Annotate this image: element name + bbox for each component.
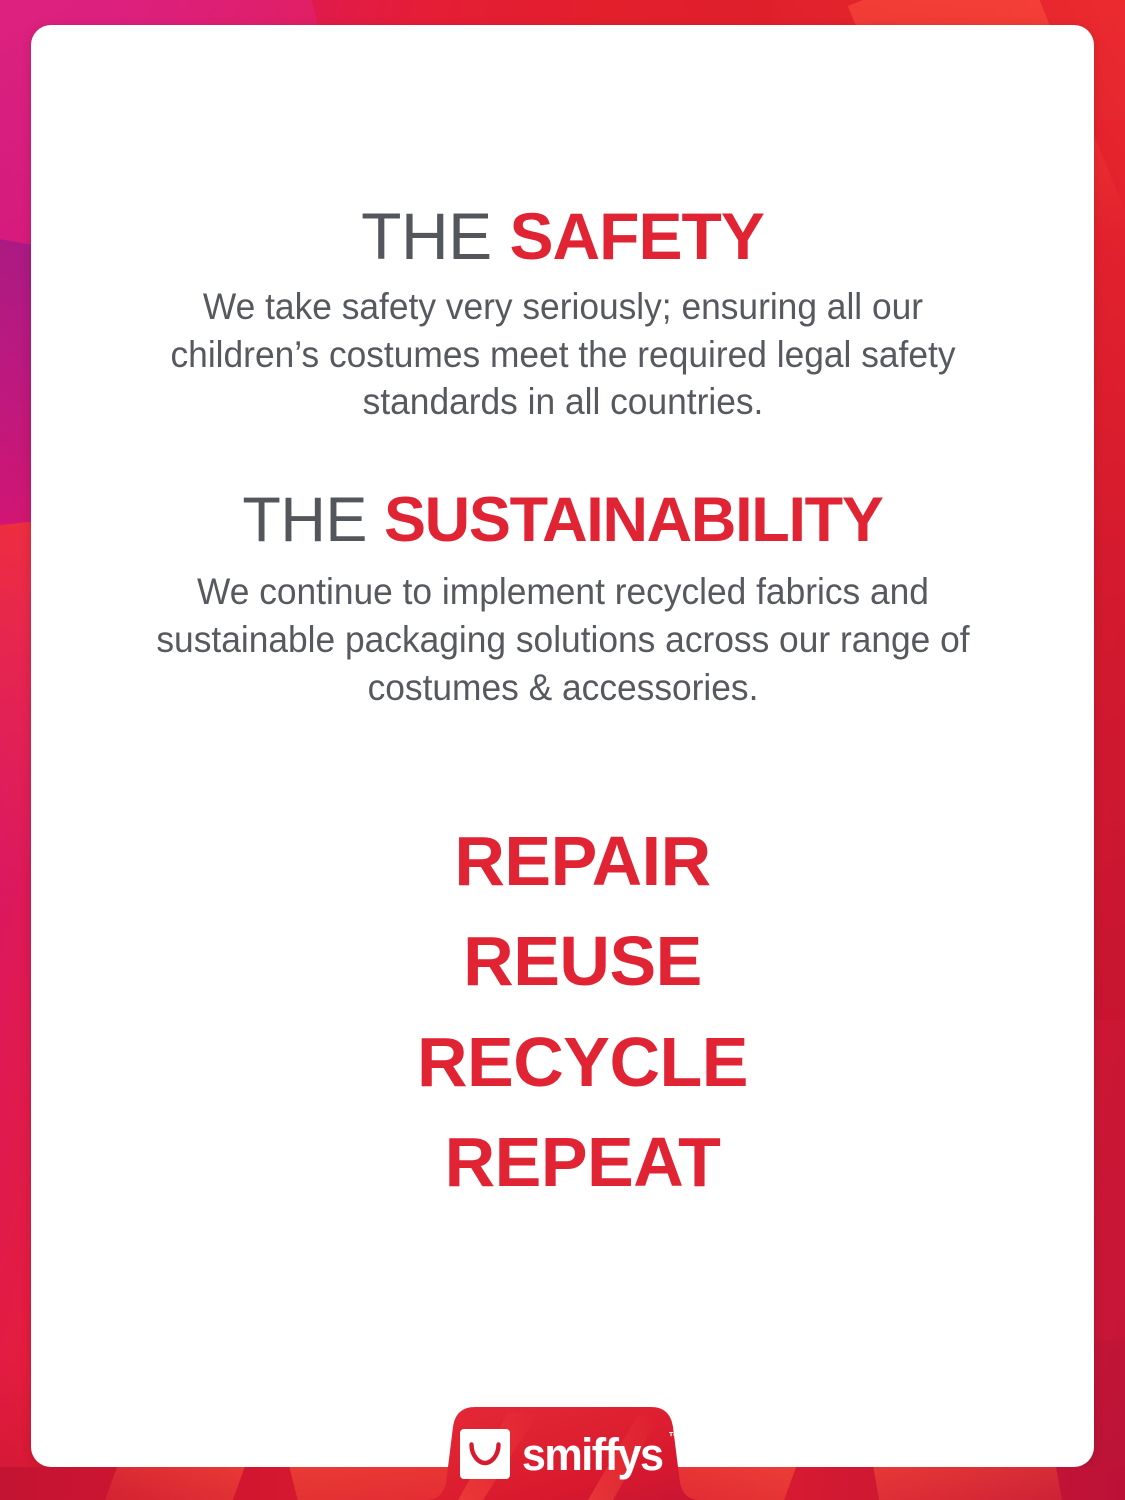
sustainability-heading: THE SUSTAINABILITY [91,489,1034,552]
mantra-item-repair: REPAIR [131,811,1034,911]
brand-wordmark: smiffys™ [522,1432,663,1477]
safety-heading-keyword: SAFETY [509,199,763,273]
safety-heading: THE SAFETY [91,203,1034,269]
poster-canvas: THE SAFETY We take safety very seriously… [0,0,1125,1500]
safety-heading-prefix: THE [361,199,509,273]
safety-body-text: We take safety very seriously; ensuring … [142,283,982,426]
content-card: THE SAFETY We take safety very seriously… [31,25,1094,1467]
mantra-item-repeat: REPEAT [131,1112,1034,1212]
band-ray-4 [869,1467,1071,1500]
smiffys-mark [460,1429,510,1479]
brand-logo-tab[interactable]: smiffys™ [413,1405,713,1500]
sustainability-heading-keyword: SUSTAINABILITY [384,485,883,555]
sustainability-body-text: We continue to implement recycled fabric… [152,568,973,711]
mantra-item-reuse: REUSE [131,911,1034,1011]
trademark-symbol: ™ [668,1430,680,1443]
smile-arc-icon [468,1441,502,1467]
sustainability-heading-prefix: THE [242,485,384,555]
brand-name: smiffys [522,1429,663,1480]
logo-lockup: smiffys™ [413,1429,713,1479]
mantra-list: REPAIR REUSE RECYCLE REPEAT [91,711,1034,1211]
mantra-item-recycle: RECYCLE [131,1012,1034,1112]
section-safety: THE SAFETY We take safety very seriously… [91,25,1034,426]
section-sustainability: THE SUSTAINABILITY We continue to implem… [91,426,1034,711]
card-content: THE SAFETY We take safety very seriously… [31,25,1094,1212]
band-ray-1 [90,1467,251,1500]
